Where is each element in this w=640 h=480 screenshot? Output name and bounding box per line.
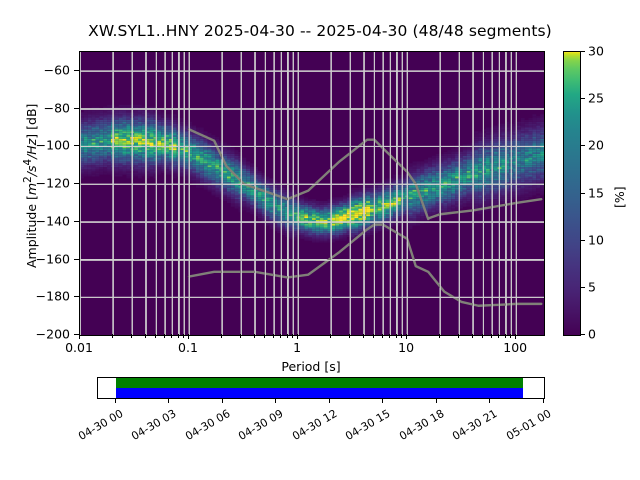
y-tick-label: −180 [0,289,70,304]
timeline-tick-label: 04-30 15 [333,407,393,449]
colorbar-label: [%] [612,186,627,208]
x-axis-label: Period [s] [79,359,543,374]
timeline-tick-label: 05-01 00 [493,407,553,449]
x-tick-label: 10 [398,340,414,355]
y-tick-label: −100 [0,138,70,153]
data-coverage-timeline[interactable] [97,377,545,399]
timeline-tick-label: 04-30 00 [65,407,125,449]
page-title: XW.SYL1..HNY 2025-04-30 -- 2025-04-30 (4… [0,22,640,40]
colorbar-tick-label: 5 [588,279,596,294]
timeline-tick-label: 04-30 09 [226,407,286,449]
coverage-band-blue [116,388,523,398]
colorbar-tick-label: 10 [588,232,604,247]
colorbar-tick-label: 30 [588,44,604,59]
timeline-tick-label: 04-30 21 [440,407,500,449]
timeline-tick-label: 04-30 03 [119,407,179,449]
y-tick-label: −80 [0,100,70,115]
y-tick-label: −160 [0,251,70,266]
coverage-band-green [116,378,523,388]
timeline-tick-label: 04-30 18 [386,407,446,449]
colorbar-tick-label: 25 [588,91,604,106]
x-tick-label: 100 [503,340,527,355]
x-tick-label: 1 [293,340,301,355]
y-tick-label: −200 [0,327,70,342]
y-tick-label: −140 [0,213,70,228]
y-tick-label: −120 [0,176,70,191]
x-tick-label: 0.01 [65,340,93,355]
ppsd-density-and-noise-models [80,52,544,335]
colorbar [563,51,581,336]
ppsd-plot-area[interactable] [79,51,545,336]
ppsd-figure: XW.SYL1..HNY 2025-04-30 -- 2025-04-30 (4… [0,0,640,480]
timeline-tick-label: 04-30 12 [279,407,339,449]
x-tick-label: 0.1 [178,340,198,355]
colorbar-tick-label: 0 [588,327,596,342]
y-tick-label: −60 [0,62,70,77]
timeline-tick-label: 04-30 06 [172,407,232,449]
colorbar-tick-label: 20 [588,138,604,153]
colorbar-tick-label: 15 [588,185,604,200]
